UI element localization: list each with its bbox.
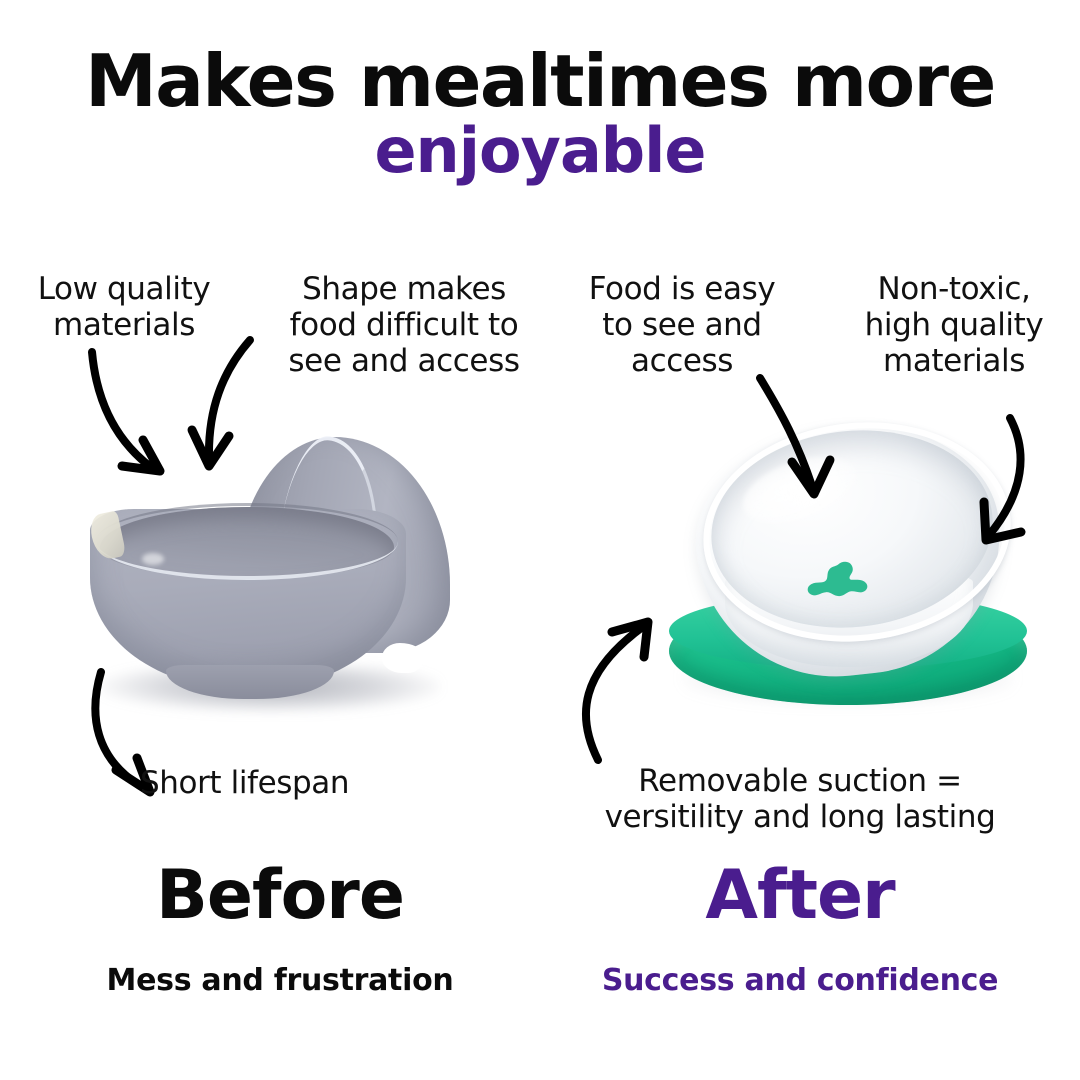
callout-food-is-easy-to-see: Food is easy to see and access (560, 272, 804, 380)
subheading-before: Mess and frustration (40, 963, 520, 998)
headline-line-1: Makes mealtimes more (0, 46, 1080, 117)
page-title: Makes mealtimes more enjoyable (0, 46, 1080, 181)
green-splat-motif (801, 556, 881, 608)
callout-shape-makes-food-difficult: Shape makes food difficult to see and ac… (264, 272, 544, 380)
grey-bowl (82, 433, 452, 723)
heading-before: Before (40, 862, 520, 930)
product-image-after (645, 395, 1055, 725)
grey-bowl-front-rim (96, 503, 398, 580)
heading-after: After (560, 862, 1040, 930)
infographic-canvas: Makes mealtimes more enjoyable (0, 0, 1080, 1080)
callout-short-lifespan: Short lifespan (140, 766, 390, 802)
headline-line-2: enjoyable (0, 121, 1080, 182)
grey-bowl-tear (382, 643, 424, 673)
callout-non-toxic-high-quality: Non-toxic, high quality materials (834, 272, 1074, 380)
callout-removable-suction: Removable suction = versitility and long… (565, 764, 1035, 836)
callout-low-quality-materials: Low quality materials (8, 272, 240, 344)
grey-bowl-highlight (142, 553, 164, 565)
subheading-after: Success and confidence (560, 963, 1040, 998)
product-image-before (60, 415, 480, 735)
white-suction-bowl (655, 407, 1045, 717)
arrow-removable-suction-icon (586, 622, 648, 760)
